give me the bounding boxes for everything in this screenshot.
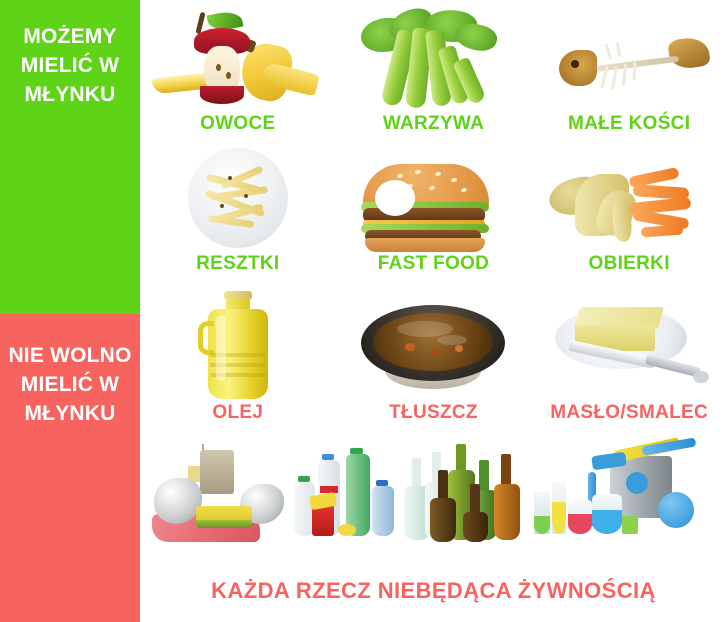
item-household-waste bbox=[140, 442, 290, 555]
frying-pan-with-grease-icon bbox=[345, 291, 521, 399]
item-label: TŁUSZCZ bbox=[389, 402, 478, 424]
item-owoce: OWOCE bbox=[140, 6, 336, 135]
item-obierki: OBIERKI bbox=[531, 146, 727, 275]
row-allowed-1: OWOCE WARZYWA bbox=[140, 6, 727, 135]
cleaning-cart-and-chemical-flasks-icon bbox=[530, 442, 727, 552]
butter-on-plate-with-knife-icon bbox=[541, 291, 717, 399]
plate-of-pasta-leftovers-icon bbox=[150, 146, 326, 250]
sidebar-allowed-text: MOŻEMY MIELIĆ W MŁYNKU bbox=[4, 22, 136, 109]
glass-bottles-icon bbox=[400, 442, 530, 552]
row-forbidden-2 bbox=[140, 442, 727, 555]
content-area: OWOCE WARZYWA bbox=[140, 0, 727, 622]
row-allowed-2: RESZTKI bbox=[140, 146, 727, 275]
sidebar-band-forbidden: NIE WOLNO MIELIĆ W MŁYNKU bbox=[0, 314, 140, 622]
potato-carrot-peelings-icon bbox=[541, 146, 717, 250]
row-forbidden-1: OLEJ TŁUSZCZ bbox=[140, 291, 727, 424]
plastic-bottles-icon bbox=[290, 442, 400, 552]
item-maslo-smalec: MASŁO/SMALEC bbox=[531, 291, 727, 424]
item-tluszcz: TŁUSZCZ bbox=[336, 291, 532, 424]
infographic-page: MOŻEMY MIELIĆ W MŁYNKU NIE WOLNO MIELIĆ … bbox=[0, 0, 727, 622]
item-glass-bottles bbox=[400, 442, 530, 555]
item-label: OLEJ bbox=[212, 402, 263, 424]
item-male-kosci: MAŁE KOŚCI bbox=[531, 6, 727, 135]
fish-skeleton-icon bbox=[541, 6, 717, 110]
item-label: FAST FOOD bbox=[378, 253, 489, 275]
celery-stalks-icon bbox=[345, 6, 521, 110]
item-label: OWOCE bbox=[200, 113, 275, 135]
sidebar: MOŻEMY MIELIĆ W MŁYNKU NIE WOLNO MIELIĆ … bbox=[0, 0, 140, 622]
apple-core-banana-peel-icon bbox=[150, 6, 326, 110]
sidebar-forbidden-text: NIE WOLNO MIELIĆ W MŁYNKU bbox=[4, 341, 136, 428]
oil-bottle-icon bbox=[150, 291, 326, 399]
teabag-sponge-foil-cloth-icon bbox=[140, 442, 290, 552]
item-olej: OLEJ bbox=[140, 291, 336, 424]
bottom-caption: KAŻDA RZECZ NIEBĘDĄCA ŻYWNOŚCIĄ bbox=[140, 578, 727, 604]
item-label: WARZYWA bbox=[383, 113, 484, 135]
item-label: OBIERKI bbox=[589, 253, 670, 275]
sidebar-band-allowed: MOŻEMY MIELIĆ W MŁYNKU bbox=[0, 0, 140, 314]
item-label: MASŁO/SMALEC bbox=[550, 402, 708, 424]
item-fast-food: FAST FOOD bbox=[336, 146, 532, 275]
item-label: MAŁE KOŚCI bbox=[568, 113, 690, 135]
item-resztki: RESZTKI bbox=[140, 146, 336, 275]
item-label: RESZTKI bbox=[196, 253, 279, 275]
item-cleaning-chemicals bbox=[530, 442, 727, 555]
item-plastic-bottles bbox=[290, 442, 400, 555]
bitten-hamburger-icon bbox=[345, 146, 521, 250]
item-warzywa: WARZYWA bbox=[336, 6, 532, 135]
